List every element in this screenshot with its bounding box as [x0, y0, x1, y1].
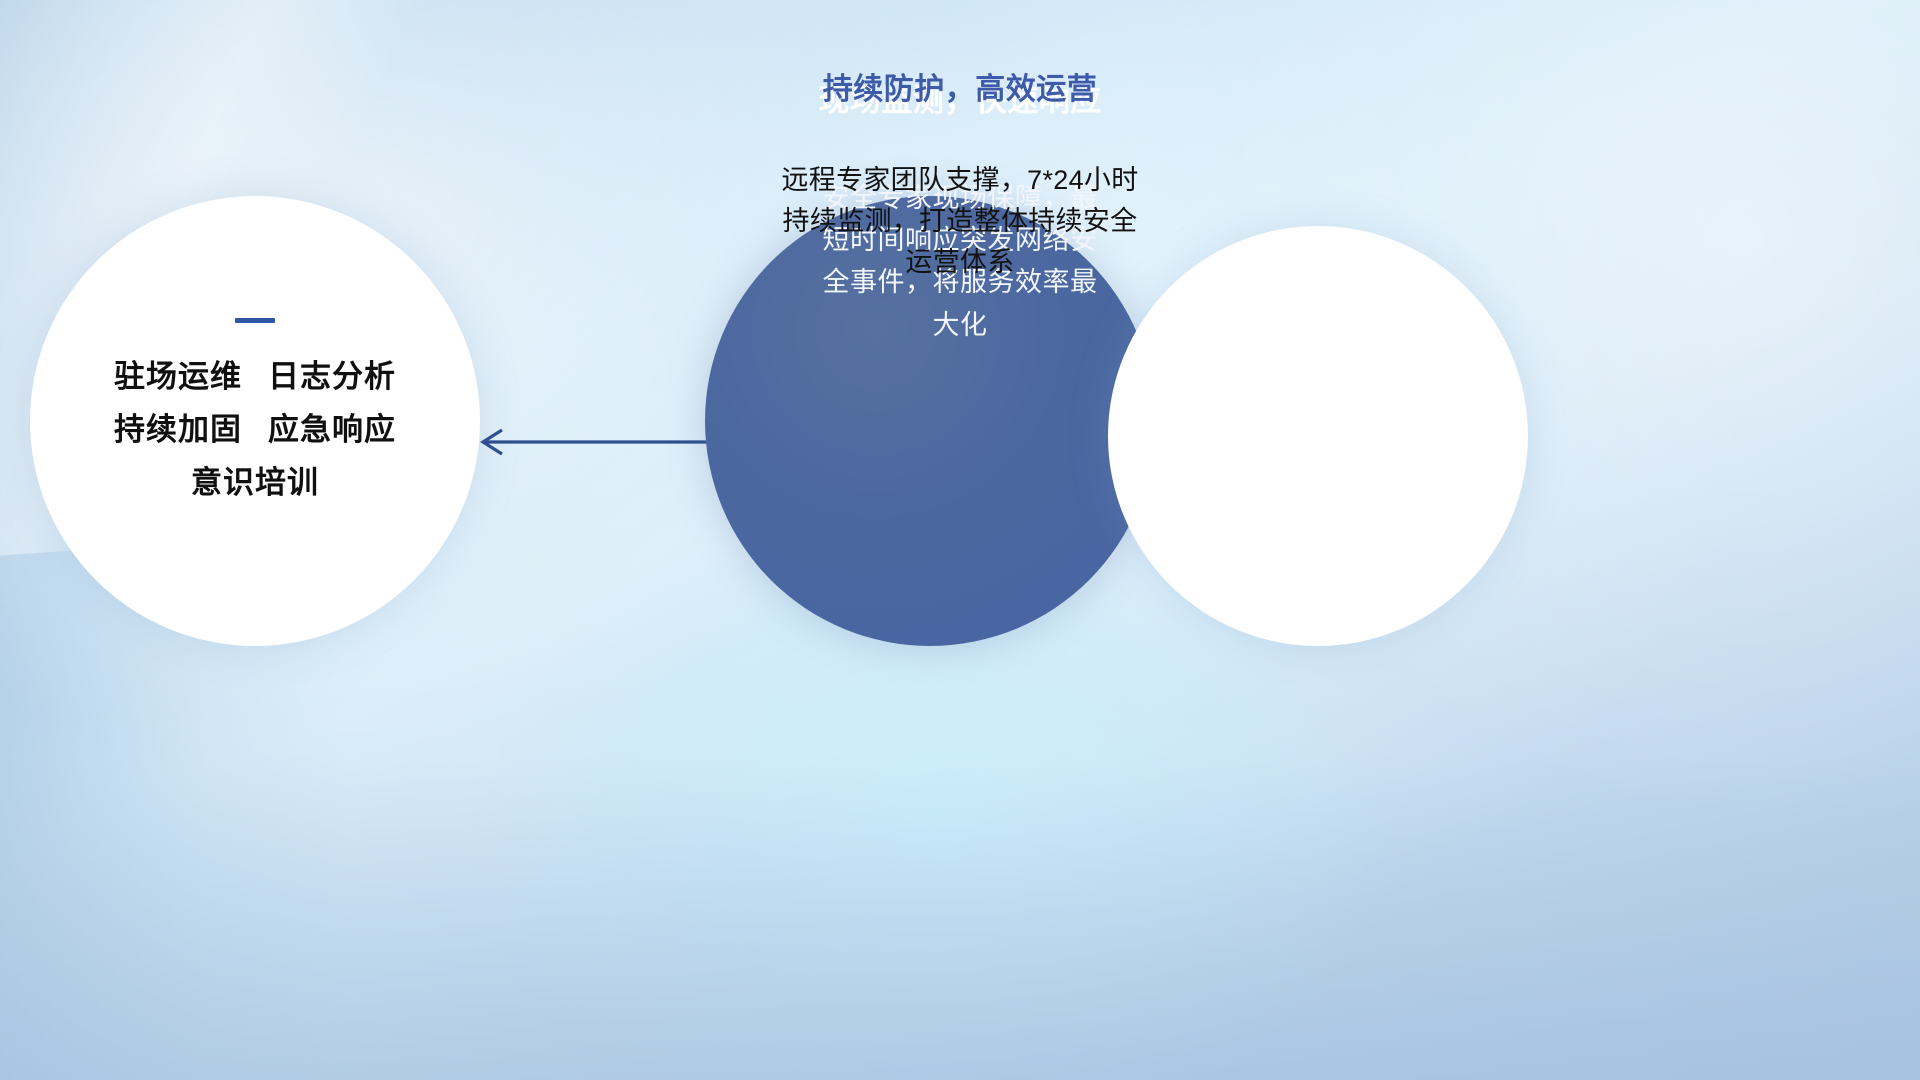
left-tag-onsite-ops[interactable]: 驻场运维	[114, 361, 242, 392]
left-circle-tag-row: 驻场运维 日志分析	[114, 361, 396, 392]
right-circle-content: 持续防护，高效运营 远程专家团队支撑，7*24小时持续监测，打造整体持续安全运营…	[760, 72, 1160, 283]
dash-divider-icon	[235, 318, 275, 323]
left-tag-awareness-training[interactable]: 意识培训	[191, 467, 319, 498]
right-operations-circle[interactable]	[1108, 226, 1528, 646]
left-capability-circle[interactable]: 驻场运维 日志分析 持续加固 应急响应 意识培训	[30, 196, 480, 646]
right-circle-title: 持续防护，高效运营	[760, 72, 1160, 108]
three-circle-diagram: 驻场运维 日志分析 持续加固 应急响应 意识培训 现场监测，快速响应 安全专家现…	[0, 0, 1920, 1080]
left-circle-tag-row: 意识培训	[191, 467, 319, 498]
left-tag-incident-response[interactable]: 应急响应	[268, 414, 396, 445]
right-circle-body: 远程专家团队支撑，7*24小时持续监测，打造整体持续安全运营体系	[775, 160, 1145, 283]
left-circle-tag-list: 驻场运维 日志分析 持续加固 应急响应 意识培训	[30, 361, 480, 498]
left-tag-hardening[interactable]: 持续加固	[114, 414, 242, 445]
left-circle-tag-row: 持续加固 应急响应	[114, 414, 396, 445]
arrow-left-icon	[470, 420, 740, 464]
left-tag-log-analysis[interactable]: 日志分析	[268, 361, 396, 392]
